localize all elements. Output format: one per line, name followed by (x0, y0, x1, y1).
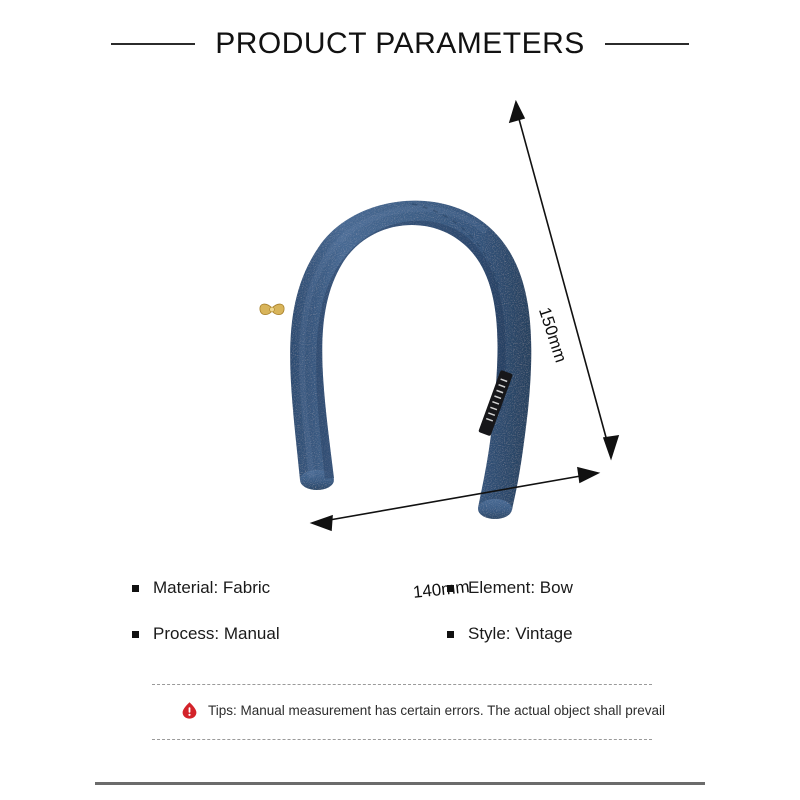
spec-item-process: Process: Manual (132, 624, 447, 644)
warning-icon (180, 701, 199, 720)
spec-list: Material: Fabric Element: Bow Process: M… (132, 578, 672, 644)
title-rule-right (605, 43, 689, 45)
tips-row: Tips: Manual measurement has certain err… (180, 701, 665, 720)
tips-text: Tips: Manual measurement has certain err… (208, 703, 665, 718)
spec-label: Element: Bow (468, 578, 573, 598)
footer-divider (95, 782, 705, 785)
page-title-row: PRODUCT PARAMETERS (0, 22, 800, 66)
bullet-square-icon (447, 631, 454, 638)
spec-item-material: Material: Fabric (132, 578, 447, 598)
bow-charm-icon (260, 304, 284, 315)
bullet-square-icon (132, 585, 139, 592)
tips-banner: Tips: Manual measurement has certain err… (152, 684, 652, 740)
spec-label: Style: Vintage (468, 624, 573, 644)
title-rule-left (111, 43, 195, 45)
spec-item-style: Style: Vintage (447, 624, 672, 644)
tips-divider-top (152, 684, 652, 685)
spec-label: Material: Fabric (153, 578, 270, 598)
headband-shape (290, 201, 531, 519)
page-title: PRODUCT PARAMETERS (215, 27, 585, 61)
spec-item-element: Element: Bow (447, 578, 672, 598)
bullet-square-icon (132, 631, 139, 638)
product-illustration: 150mm 140mm (0, 80, 800, 550)
dimension-arrow-width (312, 468, 598, 530)
tips-divider-bottom (152, 739, 652, 740)
bullet-square-icon (447, 585, 454, 592)
spec-label: Process: Manual (153, 624, 280, 644)
